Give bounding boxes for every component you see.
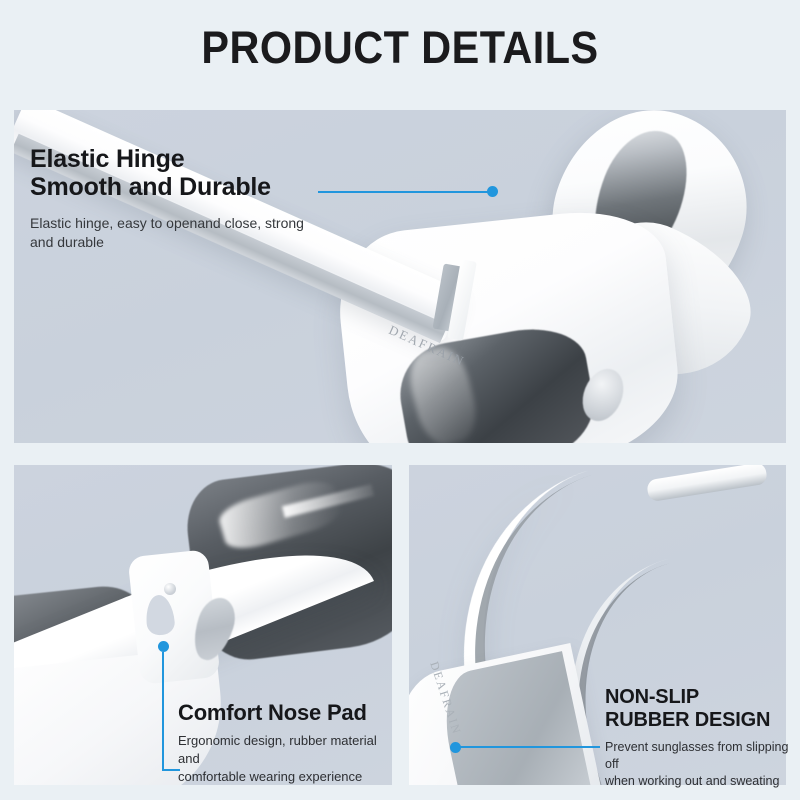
leader-line-non-slip-rubber [460, 746, 600, 748]
body-line-2: comfortable wearing experience [178, 769, 362, 784]
leader-line-elastic-hinge [318, 191, 492, 193]
callout-body-elastic-hinge: Elastic hinge, easy to openand close, st… [30, 214, 330, 252]
body-line-1: Ergonomic design, rubber material and [178, 733, 377, 766]
heading-line-2: Smooth and Durable [30, 173, 271, 201]
callout-non-slip-rubber: NON-SLIP RUBBER DESIGN Prevent sunglasse… [605, 686, 795, 790]
callout-heading-non-slip-rubber: NON-SLIP RUBBER DESIGN [605, 686, 795, 732]
heading-line-1: Elastic Hinge [30, 145, 184, 173]
page-title: PRODUCT DETAILS [32, 22, 768, 74]
leader-dot-elastic-hinge [487, 186, 498, 197]
leader-line-nose-horizontal [162, 769, 180, 771]
hinge-screw [164, 583, 176, 595]
callout-body-comfort-nose-pad: Ergonomic design, rubber material and co… [178, 732, 390, 786]
callout-heading-elastic-hinge: Elastic Hinge Smooth and Durable [30, 145, 330, 201]
heading-line-1: NON-SLIP [605, 686, 699, 708]
heading-line-2: RUBBER DESIGN [605, 709, 770, 731]
callout-body-non-slip-rubber: Prevent sunglasses from slipping off whe… [605, 739, 795, 790]
callout-elastic-hinge: Elastic Hinge Smooth and Durable Elastic… [30, 145, 330, 252]
leader-dot-comfort-nose-pad [158, 641, 169, 652]
leader-line-nose-vertical [162, 652, 164, 770]
body-line-1: Prevent sunglasses from slipping off [605, 740, 788, 771]
infographic-page: PRODUCT DETAILS DEAFRAIN [0, 0, 800, 800]
callout-comfort-nose-pad: Comfort Nose Pad Ergonomic design, rubbe… [178, 700, 390, 786]
callout-heading-comfort-nose-pad: Comfort Nose Pad [178, 700, 390, 725]
body-line-2: when working out and sweating [605, 774, 779, 788]
